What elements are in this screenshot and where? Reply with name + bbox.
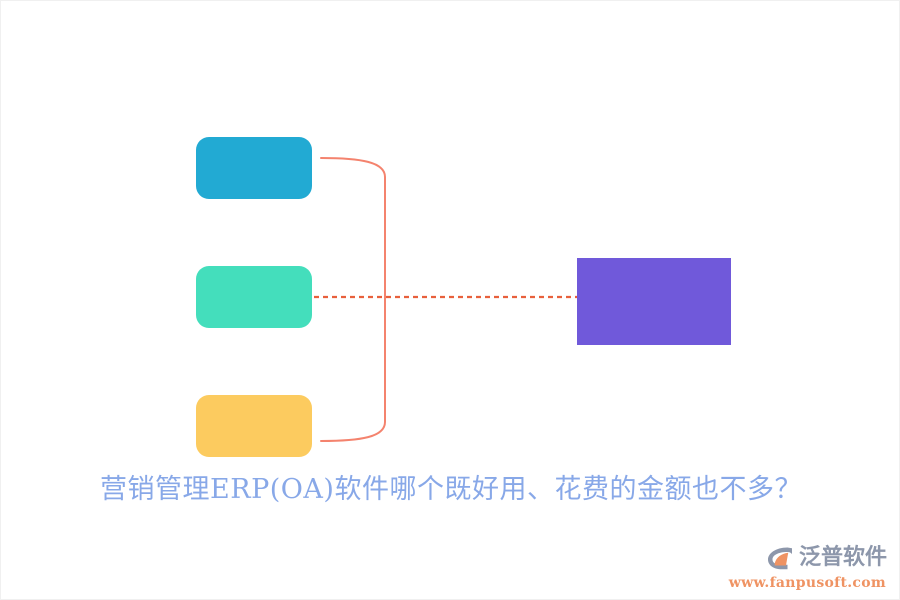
node-yellow[interactable]	[196, 395, 312, 457]
node-purple[interactable]	[577, 258, 731, 345]
brand-name: 泛普软件	[799, 547, 887, 569]
node-blue[interactable]	[196, 137, 312, 199]
connector-layer	[1, 1, 900, 600]
node-green[interactable]	[196, 266, 312, 328]
fanpu-logo-icon	[765, 543, 795, 573]
caption-text: 营销管理ERP(OA)软件哪个既好用、花费的金额也不多？	[1, 467, 900, 506]
connector-blue-to-trunk	[321, 158, 385, 441]
diagram-canvas: 营销管理ERP(OA)软件哪个既好用、花费的金额也不多？ 泛普软件 www.fa…	[0, 0, 900, 600]
watermark: 泛普软件 www.fanpusoft.com	[729, 543, 887, 591]
brand-url: www.fanpusoft.com	[729, 575, 886, 591]
logo-row: 泛普软件	[765, 543, 887, 573]
